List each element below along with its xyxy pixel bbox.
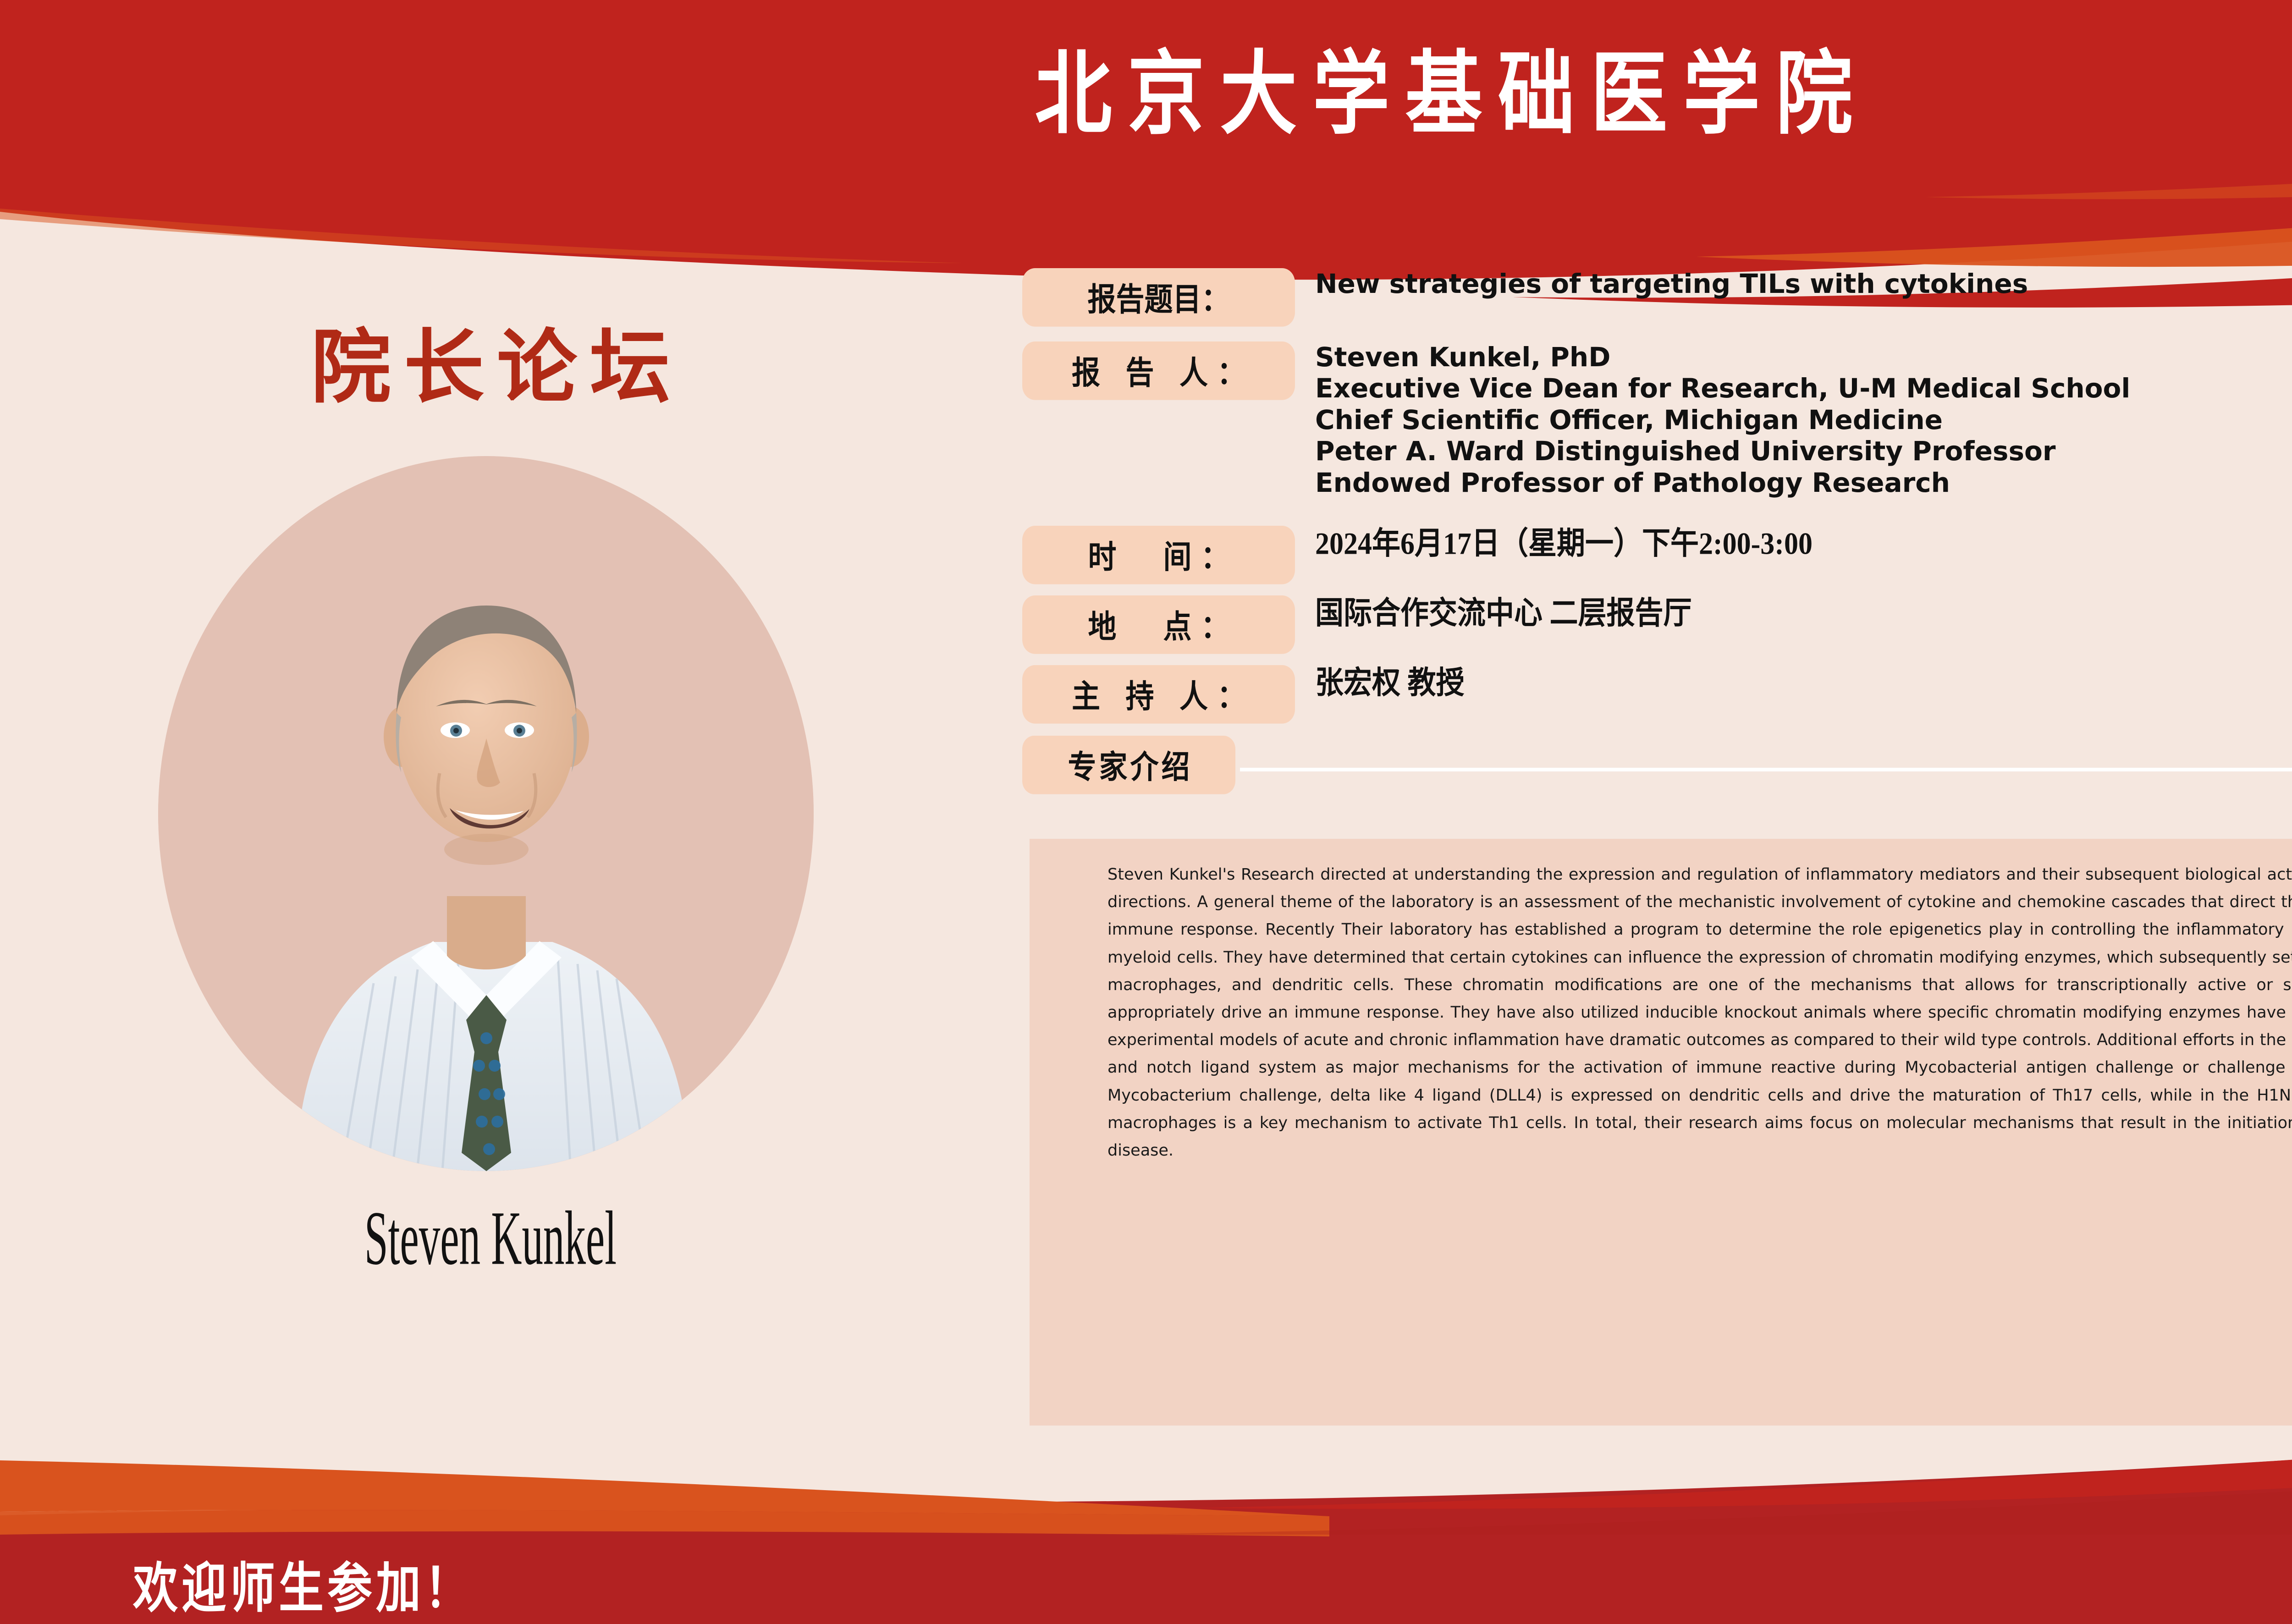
value-speaker: Steven Kunkel, PhD Executive Vice Dean f… [1295, 341, 2292, 498]
expert-intro-divider [1240, 768, 2292, 771]
expert-bio-text: Steven Kunkel's Research directed at und… [1107, 861, 2292, 1164]
welcome-message: 欢迎师生参加！ [133, 1545, 473, 1623]
seminar-info-list: 报告题目： New strategies of targeting TILs w… [1022, 268, 2292, 788]
value-place: 国际合作交流中心 二层报告厅 [1295, 595, 2292, 632]
label-host: 主 持 人： [1022, 665, 1295, 724]
label-expert-intro: 专家介绍 [1022, 736, 1235, 794]
page-footer: 欢迎师生参加！ 第165期 [0, 1412, 2292, 1624]
info-row-host: 主 持 人： 张宏权 教授 [1022, 665, 2292, 717]
expert-intro-header: 专家介绍 [1022, 736, 2292, 788]
speaker-photo [158, 456, 814, 1171]
label-time: 时 间： [1022, 526, 1295, 584]
label-place: 地 点： [1022, 595, 1295, 654]
speaker-line-2: Executive Vice Dean for Research, U-M Me… [1315, 373, 2292, 404]
info-row-topic: 报告题目： New strategies of targeting TILs w… [1022, 268, 2292, 320]
speaker-portrait-frame [158, 456, 814, 1171]
page-header: 北京大学基础医学院 [0, 0, 2292, 229]
value-topic: New strategies of targeting TILs with cy… [1295, 268, 2292, 299]
value-host: 张宏权 教授 [1295, 665, 2292, 702]
info-row-speaker: 报 告 人： Steven Kunkel, PhD Executive Vice… [1022, 341, 2292, 498]
value-time: 2024年6月17日（星期一）下午2:00-3:00 [1295, 526, 2292, 562]
forum-title: 院长论坛 [0, 303, 981, 418]
info-row-place: 地 点： 国际合作交流中心 二层报告厅 [1022, 595, 2292, 648]
left-column: 院长论坛 [0, 257, 981, 1403]
speaker-name-display: Steven Kunkel [187, 1194, 795, 1283]
info-row-time: 时 间： 2024年6月17日（星期一）下午2:00-3:00 [1022, 526, 2292, 578]
speaker-line-5: Endowed Professor of Pathology Research [1315, 467, 2292, 498]
label-speaker: 报 告 人： [1022, 341, 1295, 400]
portrait-oval-background [158, 456, 814, 1171]
speaker-line-4: Peter A. Ward Distinguished University P… [1315, 435, 2292, 467]
expert-bio-panel: Steven Kunkel's Research directed at und… [1030, 839, 2292, 1426]
organization-title: 北京大学基础医学院 [0, 43, 2292, 148]
speaker-line-3: Chief Scientific Officer, Michigan Medic… [1315, 404, 2292, 435]
speaker-line-1: Steven Kunkel, PhD [1315, 341, 2292, 373]
label-topic: 报告题目： [1022, 268, 1295, 327]
